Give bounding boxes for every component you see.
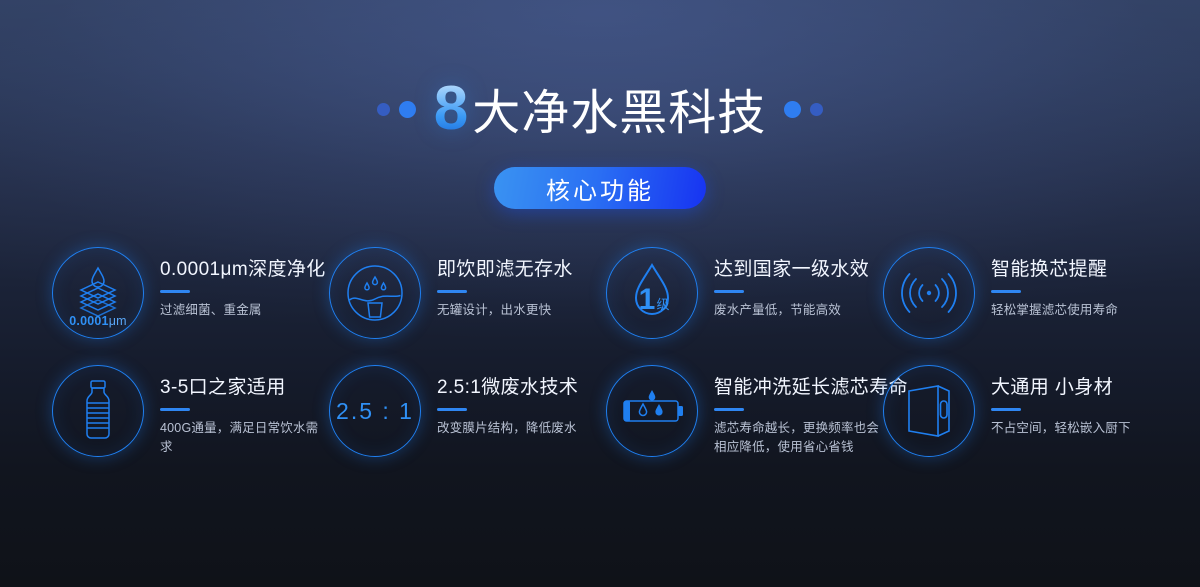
water-bottle-icon [52,365,144,457]
feature-title: 智能冲洗延长滤芯寿命 [714,377,908,399]
feature-subtitle: 轻松掌握滤芯使用寿命 [991,301,1118,320]
svg-text:1: 1 [639,283,656,316]
droplet-grade-icon: 1 级 [606,247,698,339]
ratio-text-icon: 2.5 : 1 [329,365,421,457]
feature-item: 智能冲洗延长滤芯寿命 滤芯寿命越长，更换频率也会 相应降低，使用省心省钱 [606,363,883,481]
promo-poster: 8 大净水黑科技 核心功能 0.0001μm [0,0,1200,587]
decorative-dots-left [377,101,416,118]
headline-text: 大净水黑科技 [472,90,766,138]
dot-small-icon [810,103,823,116]
feature-item: 3-5口之家适用 400G通量，满足日常饮水需求 [52,363,329,481]
dot-large-icon [399,101,416,118]
glass-water-icon [329,247,421,339]
title-divider [437,408,467,411]
feature-subtitle: 400G通量，满足日常饮水需求 [160,419,329,457]
feature-subtitle: 不占空间，轻松嵌入厨下 [991,419,1131,438]
feature-item: 即饮即滤无存水 无罐设计，出水更快 [329,245,606,363]
feature-texts: 达到国家一级水效 废水产量低，节能高效 [698,245,869,320]
feature-grid: 0.0001μm 0.0001μm深度净化 过滤细菌、重金属 [52,245,1160,481]
feature-title: 即饮即滤无存水 [437,259,573,281]
title-divider [991,290,1021,293]
feature-texts: 智能换芯提醒 轻松掌握滤芯使用寿命 [975,245,1118,320]
ratio-label: 2.5 : 1 [336,398,414,425]
feature-title: 2.5:1微废水技术 [437,377,578,399]
decorative-dots-right [784,101,823,118]
filter-cartridge-icon [606,365,698,457]
dot-large-icon [784,101,801,118]
feature-subtitle: 无罐设计，出水更快 [437,301,573,320]
feature-item: 1 级 达到国家一级水效 废水产量低，节能高效 [606,245,883,363]
feature-subtitle: 废水产量低，节能高效 [714,301,869,320]
feature-texts: 3-5口之家适用 400G通量，满足日常饮水需求 [144,363,329,456]
filter-layers-icon: 0.0001μm [52,247,144,339]
feature-item: 智能换芯提醒 轻松掌握滤芯使用寿命 [883,245,1160,363]
feature-title: 智能换芯提醒 [991,259,1118,281]
title-divider [714,408,744,411]
feature-title: 0.0001μm深度净化 [160,259,326,281]
filter-micron-label: 0.0001μm [53,314,143,328]
title-divider [991,408,1021,411]
feature-texts: 0.0001μm深度净化 过滤细菌、重金属 [144,245,326,320]
headline: 8 大净水黑科技 [434,78,767,140]
signal-waves-icon [883,247,975,339]
core-function-badge: 核心功能 [494,167,706,209]
feature-item: 2.5 : 1 2.5:1微废水技术 改变膜片结构，降低废水 [329,363,606,481]
purifier-box-icon [883,365,975,457]
feature-subtitle: 改变膜片结构，降低废水 [437,419,578,438]
feature-texts: 大通用 小身材 不占空间，轻松嵌入厨下 [975,363,1131,438]
title-divider [160,290,190,293]
feature-title: 大通用 小身材 [991,377,1131,399]
feature-texts: 2.5:1微废水技术 改变膜片结构，降低废水 [421,363,578,438]
feature-title: 3-5口之家适用 [160,377,329,399]
dot-small-icon [377,103,390,116]
title-divider [714,290,744,293]
headline-number: 8 [434,78,472,140]
title-divider [160,408,190,411]
svg-text:级: 级 [656,297,669,312]
feature-texts: 即饮即滤无存水 无罐设计，出水更快 [421,245,573,320]
feature-title: 达到国家一级水效 [714,259,869,281]
feature-subtitle: 滤芯寿命越长，更换频率也会 相应降低，使用省心省钱 [714,419,908,457]
core-function-badge-wrap: 核心功能 [0,167,1200,209]
poster-header: 8 大净水黑科技 [0,78,1200,140]
feature-item: 0.0001μm 0.0001μm深度净化 过滤细菌、重金属 [52,245,329,363]
feature-texts: 智能冲洗延长滤芯寿命 滤芯寿命越长，更换频率也会 相应降低，使用省心省钱 [698,363,908,456]
feature-item: 大通用 小身材 不占空间，轻松嵌入厨下 [883,363,1160,481]
feature-subtitle: 过滤细菌、重金属 [160,301,326,320]
title-divider [437,290,467,293]
